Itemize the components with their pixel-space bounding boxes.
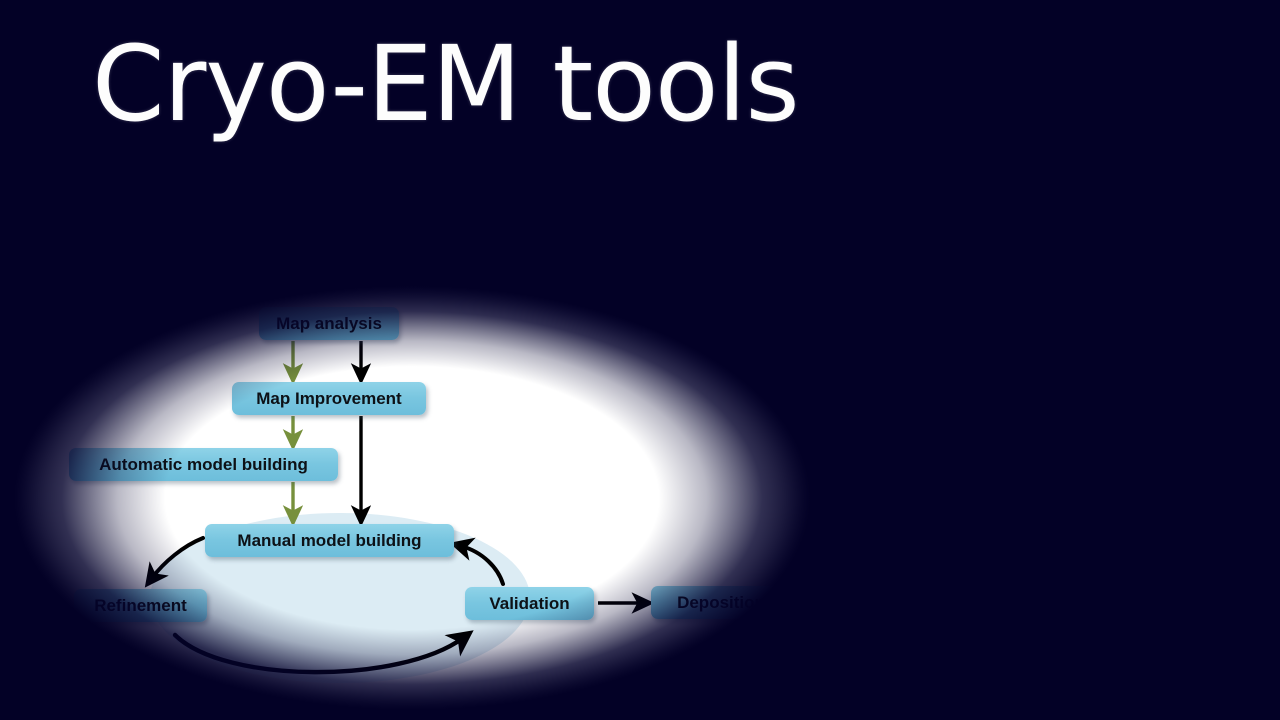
edge-refinement-to-validation <box>175 635 463 672</box>
edge-manual-model-to-refinement <box>152 538 203 578</box>
node-manual-model-building[interactable]: Manual model building <box>205 524 454 557</box>
page-title: Cryo-EM tools <box>92 30 799 139</box>
node-refinement[interactable]: Refinement <box>74 589 207 622</box>
slide-canvas: Tutorial Tutorial <box>0 0 1280 720</box>
node-map-analysis[interactable]: Map analysis <box>259 307 399 340</box>
edge-validation-to-manual-model <box>461 546 503 584</box>
node-validation[interactable]: Validation <box>465 587 594 620</box>
node-map-improvement[interactable]: Map Improvement <box>232 382 426 415</box>
node-automatic-model-building[interactable]: Automatic model building <box>69 448 338 481</box>
node-deposition[interactable]: Deposition <box>651 586 791 619</box>
